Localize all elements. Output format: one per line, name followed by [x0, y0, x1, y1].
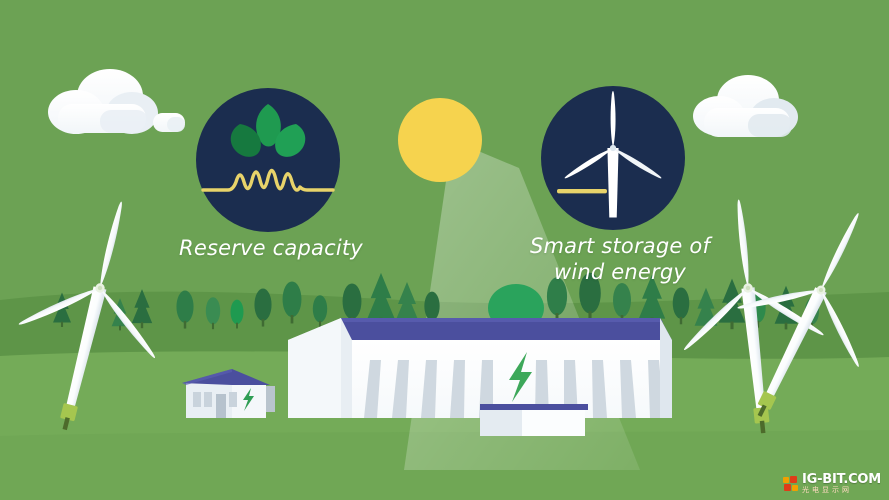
watermark-logo-icon — [783, 476, 799, 492]
label-reserve-capacity: Reserve capacity — [168, 236, 374, 262]
wind-turbine-badge — [541, 86, 685, 230]
house-window — [193, 392, 201, 407]
house-window — [229, 392, 237, 407]
watermark-title: IG-BIT.COM — [802, 473, 881, 486]
scene-artwork — [0, 0, 889, 500]
house-window — [204, 392, 212, 407]
ig-bit-watermark: IG-BIT.COM 光电显示网 — [779, 471, 885, 496]
leaf-waveform-badge — [196, 88, 340, 232]
label-smart-storage: Smart storage of wind energy — [515, 234, 725, 285]
sun-icon — [398, 98, 482, 182]
cloud-left-small — [153, 113, 185, 132]
illustration-canvas: Reserve capacity Smart storage of wind e… — [0, 0, 889, 500]
house-door — [216, 394, 226, 418]
watermark-subtitle: 光电显示网 — [802, 487, 881, 494]
entrance-canopy — [480, 404, 588, 410]
badge-bar-icon — [557, 189, 607, 193]
watermark-text-group: IG-BIT.COM 光电显示网 — [802, 473, 881, 494]
